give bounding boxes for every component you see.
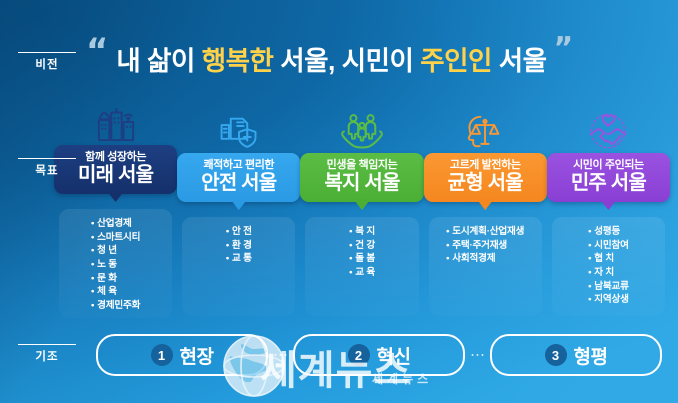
vision-highlight-1: 행복한 [202, 46, 274, 76]
list-item: 도시계획·산업재생 [446, 225, 524, 239]
list-item: 스마트시티 [91, 231, 140, 245]
city-buildings-icon [93, 104, 139, 142]
goal-column-4: 고르게 발전하는균형 서울도시계획·산업재생주택·주거재생사회적경제 [426, 104, 545, 316]
family-hands-icon [339, 112, 385, 150]
list-item: 주택·주거재생 [446, 239, 524, 253]
goal-bullets-5: 성평등시민참여협 치자 치남북교류지역상생 [552, 217, 665, 316]
goal-card-2[interactable]: 쾌적하고 편리한안전 서울 [177, 153, 300, 202]
goal-card-subtitle: 시민이 주인되는 [549, 159, 668, 171]
goal-card-subtitle: 고르게 발전하는 [426, 159, 545, 171]
pill-connector-dots [469, 354, 486, 356]
list-item: 경제민주화 [91, 299, 140, 313]
list-item: 체 육 [91, 285, 140, 299]
base-pill-label: 형평 [574, 342, 608, 369]
list-item: 건 강 [349, 239, 375, 253]
shield-document-icon [217, 113, 261, 150]
base-pill-2[interactable]: 2혁신 [293, 334, 465, 376]
goal-card-title: 민주 서울 [549, 172, 668, 195]
rail-label-vision: 비전 [18, 52, 76, 72]
goal-card-tail [230, 199, 247, 210]
handshake-heart-icon-wrap [585, 104, 631, 150]
list-item: 지역상생 [588, 293, 629, 307]
rail-label-base: 기조 [18, 344, 76, 364]
base-pill-1[interactable]: 1현장 [96, 334, 268, 376]
city-buildings-icon-wrap [93, 104, 139, 142]
list-item: 시민참여 [588, 239, 629, 253]
goal-card-title: 균형 서울 [426, 172, 545, 195]
vision-highlight-2: 주인인 [420, 46, 492, 76]
list-item: 문 화 [91, 272, 140, 286]
list-item: 성평등 [588, 225, 629, 239]
goal-card-tail [354, 199, 371, 210]
list-item: 협 치 [588, 252, 629, 266]
goal-card-5[interactable]: 시민이 주인되는민주 서울 [547, 153, 670, 202]
base-pill-3[interactable]: 3형평 [490, 334, 662, 376]
base-pill-label: 혁신 [377, 342, 411, 369]
list-item: 산업경제 [91, 217, 140, 231]
goal-bullets-3: 복 지건 강돌 봄교 육 [305, 217, 418, 316]
goal-card-4[interactable]: 고르게 발전하는균형 서울 [424, 153, 547, 202]
rail-label-goal: 목표 [18, 158, 76, 178]
vision-text: 내 삶이 행복한 서울, 시민이 주인인 서울 [116, 39, 546, 78]
goal-card-title: 복지 서울 [302, 172, 421, 195]
list-item: 교 육 [349, 266, 375, 280]
shield-document-icon-wrap [217, 104, 261, 150]
goal-column-1: 함께 성장하는미래 서울산업경제스마트시티청 년노 동문 화체 육경제민주화 [56, 104, 175, 316]
list-item: 환 경 [226, 239, 252, 253]
list-item: 돌 봄 [349, 252, 375, 266]
goal-bullets-2: 안 전환 경교 통 [182, 217, 295, 316]
goal-column-2: 쾌적하고 편리한안전 서울안 전환 경교 통 [179, 104, 298, 316]
goal-card-3[interactable]: 민생을 책임지는복지 서울 [300, 153, 423, 202]
base-pill-label: 현장 [180, 342, 214, 369]
balance-scales-icon [463, 113, 507, 150]
handshake-heart-icon [585, 112, 631, 150]
goal-bullets-4: 도시계획·산업재생주택·주거재생사회적경제 [429, 217, 542, 316]
goal-bullets-1: 산업경제스마트시티청 년노 동문 화체 육경제민주화 [59, 209, 172, 318]
goal-card-subtitle: 민생을 책임지는 [302, 159, 421, 171]
vision-row: “ 내 삶이 행복한 서울, 시민이 주인인 서울 ” [86, 28, 664, 88]
list-item: 청 년 [91, 244, 140, 258]
goal-columns: 함께 성장하는미래 서울산업경제스마트시티청 년노 동문 화체 육경제민주화쾌적… [56, 104, 668, 316]
goal-column-5: 시민이 주인되는민주 서울성평등시민참여협 치자 치남북교류지역상생 [549, 104, 668, 316]
balance-scales-icon-wrap [463, 104, 507, 150]
family-hands-icon-wrap [339, 104, 385, 150]
goal-card-tail [107, 191, 124, 202]
list-item: 남북교류 [588, 280, 629, 294]
list-item: 복 지 [349, 225, 375, 239]
base-pill-row: 1현장2혁신3형평 [96, 332, 662, 378]
quote-close-icon: ” [554, 34, 574, 64]
goal-card-tail [477, 199, 494, 210]
base-pill-number: 3 [545, 344, 567, 366]
list-item: 교 통 [226, 252, 252, 266]
vision-part-3: 서울 [492, 46, 547, 76]
pill-connector-dots [272, 354, 289, 356]
goal-card-title: 안전 서울 [179, 172, 298, 195]
list-item: 노 동 [91, 258, 140, 272]
goal-column-3: 민생을 책임지는복지 서울복 지건 강돌 봄교 육 [302, 104, 421, 316]
quote-open-icon: “ [86, 34, 108, 68]
goal-card-tail [600, 199, 617, 210]
base-pill-number: 2 [348, 344, 370, 366]
vision-part-2: 서울, 시민이 [273, 46, 420, 76]
base-pill-number: 1 [151, 344, 173, 366]
list-item: 사회적경제 [446, 252, 524, 266]
goal-card-subtitle: 쾌적하고 편리한 [179, 159, 298, 171]
list-item: 자 치 [588, 266, 629, 280]
vision-part-1: 내 삶이 [116, 46, 201, 76]
list-item: 안 전 [226, 225, 252, 239]
infographic-poster: 비전 목표 기조 “ 내 삶이 행복한 서울, 시민이 주인인 서울 ” 함께 … [0, 0, 678, 403]
